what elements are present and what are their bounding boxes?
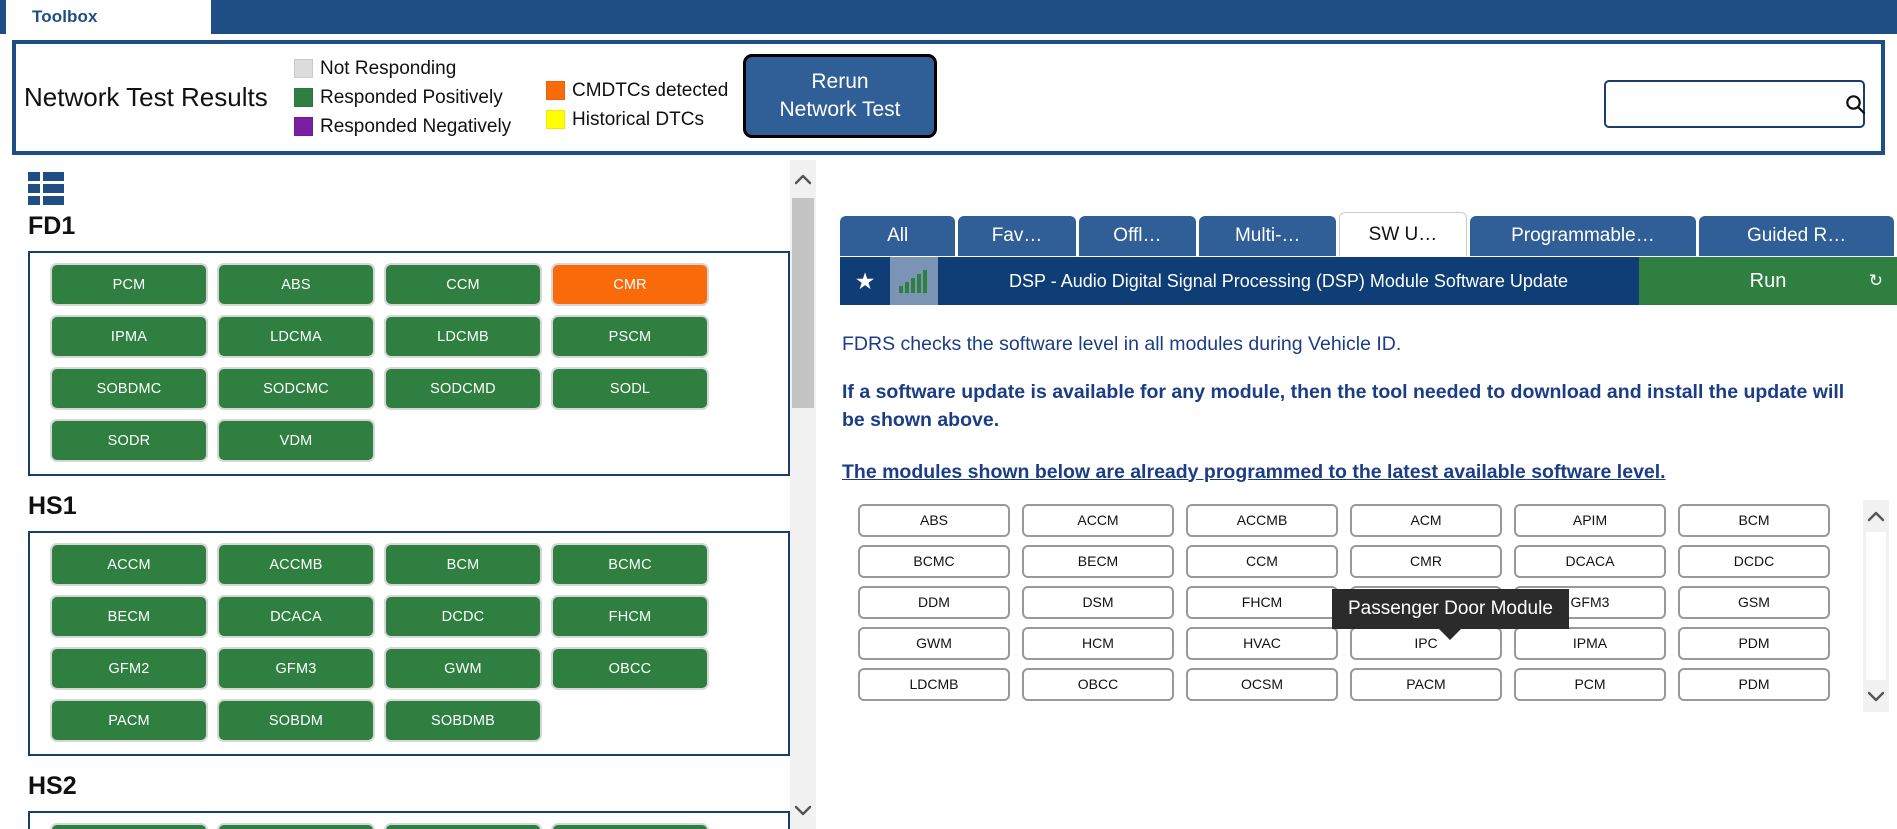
module-chip[interactable]: BCM [384,543,542,586]
module-chip[interactable]: OBCC [551,647,709,690]
module-chip[interactable]: ACCMB [217,543,375,586]
legend-swatch-historical-dtcs [546,110,565,129]
bus-section: HS2GSMHCMOCSMRCM [0,772,820,829]
chevron-up-icon[interactable] [790,164,816,194]
procedure-tabs: AllFav…Offl…Multi-…SW U…Programmable…Gui… [840,212,1897,256]
chevron-down-icon[interactable] [1863,682,1889,710]
legend-column-right: CMDTCs detected Historical DTCs [546,76,728,134]
programmed-module-chip[interactable]: CCM [1186,545,1338,578]
info-text-update-available: If a software update is available for an… [842,378,1852,435]
dsp-row-title: DSP - Audio Digital Signal Processing (D… [938,257,1639,305]
left-panel-scrollbar[interactable] [790,160,816,829]
programmed-module-chip[interactable]: IPMA [1514,627,1666,660]
dsp-software-update-row[interactable]: ★ DSP - Audio Digital Signal Processing … [840,257,1897,305]
module-chip[interactable]: SODR [50,419,208,462]
module-chip[interactable]: IPMA [50,315,208,358]
right-scrollbar-track[interactable] [1866,532,1886,680]
module-chip[interactable]: SOBDMB [384,699,542,742]
programmed-module-chip[interactable]: HCM [1022,627,1174,660]
programmed-module-chip[interactable]: GSM [1678,586,1830,619]
legend-label-not-responding: Not Responding [320,58,456,80]
tab-3[interactable]: Offl… [1079,216,1196,256]
tab-1[interactable]: All [840,216,955,256]
info-text-modules-latest: The modules shown below are already prog… [842,461,1897,484]
run-button[interactable]: Run ↻ [1639,257,1897,305]
bus-title: FD1 [28,212,820,241]
module-chip[interactable]: PSCM [551,315,709,358]
programmed-module-chip[interactable]: PDM [1678,668,1830,701]
programmed-module-chip[interactable]: BCMC [858,545,1010,578]
programmed-module-chip[interactable]: LDCMB [858,668,1010,701]
grid-view-icon[interactable] [28,172,64,211]
chevron-down-icon[interactable] [790,795,816,825]
procedures-panel: AllFav…Offl…Multi-…SW U…Programmable…Gui… [840,212,1897,829]
programmed-module-chip[interactable]: OCSM [1186,668,1338,701]
module-chip[interactable]: DCACA [217,595,375,638]
module-chip[interactable]: ABS [217,263,375,306]
module-chip[interactable]: PCM [50,263,208,306]
module-chip[interactable]: FHCM [551,595,709,638]
module-chip[interactable]: GWM [384,647,542,690]
programmed-modules-area: ABSACCMACCMBACMAPIMBCMBCMCBECMCCMCMRDCAC… [840,504,1897,719]
legend-label-cmdtcs-detected: CMDTCs detected [572,80,728,102]
left-scrollbar-thumb[interactable] [792,198,814,408]
legend-label-historical-dtcs: Historical DTCs [572,109,704,131]
module-chip[interactable]: OCSM [384,823,542,829]
bus-section: HS1ACCMACCMBBCMBCMCBECMDCACADCDCFHCMGFM2… [0,492,820,756]
module-chip[interactable]: GFM3 [217,647,375,690]
search-icon[interactable] [1843,92,1867,116]
legend-item-not-responding: Not Responding [294,54,511,83]
programmed-module-chip[interactable]: ACCMB [1186,504,1338,537]
module-chip[interactable]: SOBDM [217,699,375,742]
rerun-network-test-button[interactable]: Rerun Network Test [743,54,937,138]
legend-swatch-not-responding [294,59,313,78]
module-chip[interactable]: SODCMD [384,367,542,410]
network-test-results-title: Network Test Results [24,82,268,113]
programmed-module-chip[interactable]: HVAC [1186,627,1338,660]
programmed-module-chip[interactable]: BCM [1678,504,1830,537]
legend-column-left: Not Responding Responded Positively Resp… [294,54,511,141]
bus-title: HS1 [28,492,820,521]
legend-swatch-responded-negatively [294,117,313,136]
tab-2[interactable]: Fav… [958,216,1075,256]
network-test-results-panel: Network Test Results Not Responding Resp… [12,40,1885,155]
module-chip[interactable]: HCM [217,823,375,829]
chevron-up-icon[interactable] [1863,502,1889,530]
module-chip[interactable]: GSM [50,823,208,829]
programmed-module-chip[interactable]: ACM [1350,504,1502,537]
module-grid: ACCMACCMBBCMBCMCBECMDCACADCDCFHCMGFM2GFM… [30,543,788,742]
run-button-label: Run [1750,270,1787,293]
info-text-vehicle-id: FDRS checks the software level in all mo… [842,333,1897,356]
module-chip[interactable]: LDCMA [217,315,375,358]
module-chip[interactable]: CCM [384,263,542,306]
programmed-module-chip[interactable]: OBCC [1022,668,1174,701]
programmed-module-chip[interactable]: PACM [1350,668,1502,701]
module-tooltip: Passenger Door Module [1332,589,1569,629]
rerun-button-line1: Rerun [811,68,868,96]
programmed-module-chip[interactable]: DCACA [1514,545,1666,578]
tab-6[interactable]: Programmable… [1470,216,1697,256]
module-chip[interactable]: BCMC [551,543,709,586]
programmed-module-chip[interactable]: BECM [1022,545,1174,578]
bus-title: HS2 [28,772,820,801]
legend-label-responded-negatively: Responded Negatively [320,116,511,138]
programmed-module-chip[interactable]: DSM [1022,586,1174,619]
module-chip[interactable]: VDM [217,419,375,462]
module-grid: PCMABSCCMCMRIPMALDCMALDCMBPSCMSOBDMCSODC… [30,263,788,462]
module-chip[interactable]: SODCMC [217,367,375,410]
programmed-module-chip[interactable]: IPC [1350,627,1502,660]
programmed-module-chip[interactable]: APIM [1514,504,1666,537]
legend-swatch-responded-positively [294,88,313,107]
rerun-button-line2: Network Test [780,96,901,124]
module-chip[interactable]: PACM [50,699,208,742]
star-icon[interactable]: ★ [840,257,890,305]
bus-section: FD1PCMABSCCMCMRIPMALDCMALDCMBPSCMSOBDMCS… [0,212,820,476]
module-grid: GSMHCMOCSMRCM [30,823,788,829]
refresh-icon[interactable]: ↻ [1869,271,1883,291]
module-chip[interactable]: SODL [551,367,709,410]
legend-swatch-cmdtcs-detected [546,81,565,100]
module-chip[interactable]: RCM [551,823,709,829]
legend-label-responded-positively: Responded Positively [320,87,503,109]
programmed-module-chip[interactable]: CMR [1350,545,1502,578]
bus-module-box: GSMHCMOCSMRCM [28,811,790,829]
module-chip[interactable]: BECM [50,595,208,638]
tab-5[interactable]: SW U… [1339,212,1466,256]
search-box[interactable] [1604,80,1865,128]
search-input[interactable] [1606,82,1843,126]
programmed-module-chip[interactable]: DCDC [1678,545,1830,578]
programmed-module-chip[interactable]: DDM [858,586,1010,619]
programmed-module-chip[interactable]: FHCM [1186,586,1338,619]
module-chip[interactable]: LDCMB [384,315,542,358]
legend-item-cmdtcs-detected: CMDTCs detected [546,76,728,105]
programmed-module-chip[interactable]: PDM [1678,627,1830,660]
tab-toolbox[interactable]: Toolbox [6,0,211,34]
bus-module-box: ACCMACCMBBCMBCMCBECMDCACADCDCFHCMGFM2GFM… [28,531,790,756]
tab-toolbox-label: Toolbox [32,7,98,27]
module-chip[interactable]: GFM2 [50,647,208,690]
module-chip[interactable]: CMR [551,263,709,306]
module-chip[interactable]: DCDC [384,595,542,638]
programmed-module-chip[interactable]: ACCM [1022,504,1174,537]
module-chip[interactable]: SOBDMC [50,367,208,410]
programmed-module-chip[interactable]: ABS [858,504,1010,537]
tab-7[interactable]: Guided R… [1699,216,1894,256]
signal-bars-icon[interactable] [890,257,938,305]
network-module-map: FD1PCMABSCCMCMRIPMALDCMALDCMBPSCMSOBDMCS… [0,160,820,829]
programmed-module-chip[interactable]: GWM [858,627,1010,660]
legend-item-responded-negatively: Responded Negatively [294,112,511,141]
module-chip[interactable]: ACCM [50,543,208,586]
bus-module-box: PCMABSCCMCMRIPMALDCMALDCMBPSCMSOBDMCSODC… [28,251,790,476]
legend-item-responded-positively: Responded Positively [294,83,511,112]
right-panel-scrollbar[interactable] [1863,500,1889,712]
legend-item-historical-dtcs: Historical DTCs [546,105,728,134]
tab-4[interactable]: Multi-… [1199,216,1336,256]
top-tab-strip: Toolbox [0,0,1897,34]
programmed-module-chip[interactable]: PCM [1514,668,1666,701]
